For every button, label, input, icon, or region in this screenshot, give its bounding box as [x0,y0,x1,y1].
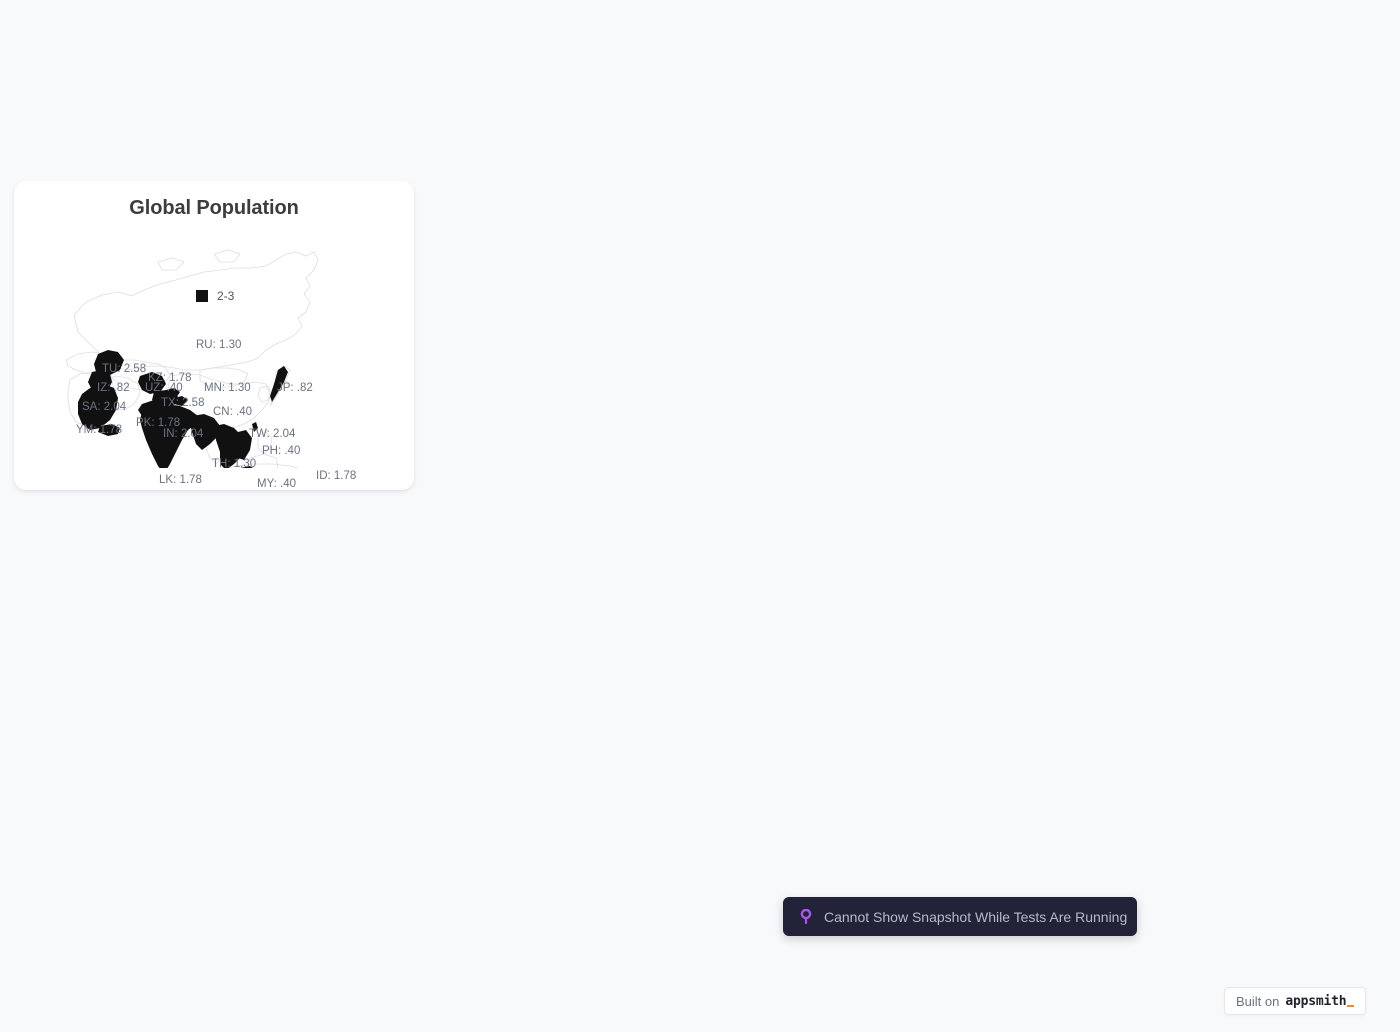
map-canvas[interactable]: 2-3 TU: 2.58 IZ: .82 SA: 2.04 YM: 1.78 K… [14,220,414,468]
map-label-TU: TU: 2.58 [102,364,146,376]
legend-swatch-icon [196,290,208,302]
map-label-TX: TX: 2.58 [161,398,204,410]
toast-notification[interactable]: Cannot Show Snapshot While Tests Are Run… [783,897,1137,936]
map-label-IN: IN: 2.04 [163,429,203,441]
map-widget-card[interactable]: Global Population [14,181,414,490]
map-label-LK: LK: 1.78 [159,475,202,487]
map-label-JP: JP: .82 [277,383,313,395]
map-label-MY: MY: .40 [257,479,296,490]
map-label-CN: CN: .40 [213,407,252,419]
map-label-YM: YM: 1.78 [76,425,122,437]
map-label-PH: PH: .40 [262,446,300,458]
map-label-TH: TH: 1.30 [212,459,256,471]
map-legend: 2-3 [196,290,234,302]
appsmith-brand-text: appsmith [1285,994,1346,1009]
map-label-IZ: IZ: .82 [97,383,130,395]
map-widget-title: Global Population [14,197,414,220]
appsmith-cursor-icon [1347,1005,1354,1007]
map-label-RU: RU: 1.30 [196,340,241,352]
map-label-UZ: UZ: .40 [145,383,183,395]
map-label-TW: TW: 2.04 [249,429,295,441]
toast-message: Cannot Show Snapshot While Tests Are Run… [824,910,1127,924]
built-on-appsmith-badge[interactable]: Built on appsmith [1224,987,1366,1015]
map-label-MN: MN: 1.30 [204,383,251,395]
map-label-SA: SA: 2.04 [82,402,126,414]
map-label-ID: ID: 1.78 [316,471,356,483]
built-on-label: Built on [1236,995,1279,1008]
pin-icon [799,909,813,925]
legend-label: 2-3 [217,290,234,302]
appsmith-wordmark: appsmith [1285,995,1354,1008]
